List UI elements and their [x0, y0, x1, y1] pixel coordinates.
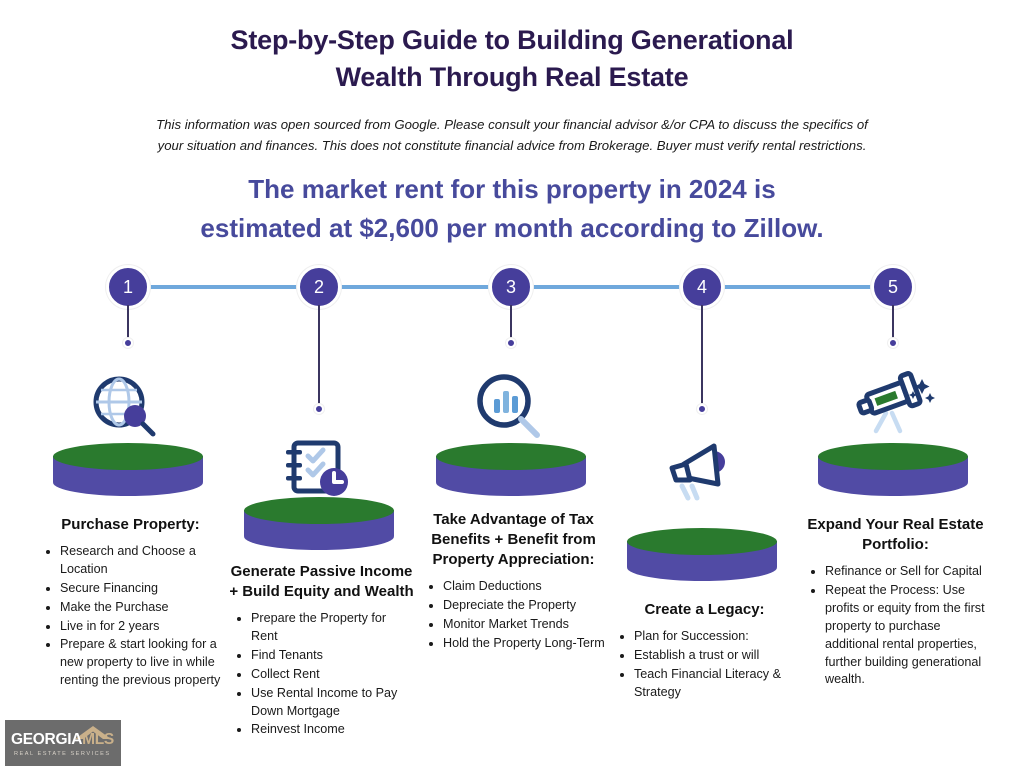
platform-cap — [818, 443, 968, 470]
list-item: Find Tenants — [251, 647, 414, 665]
list-item: Make the Purchase — [60, 599, 223, 617]
step-column-5: Expand Your Real Estate Portfolio: Refin… — [803, 515, 988, 690]
market-rent-note: The market rent for this property in 202… — [0, 170, 1024, 247]
platform-cap — [627, 528, 777, 555]
platform-4 — [627, 528, 777, 578]
platform-3 — [436, 443, 586, 493]
step-heading-5: Expand Your Real Estate Portfolio: — [803, 515, 988, 555]
platform-5 — [818, 443, 968, 493]
georgia-mls-logo: GEORGIAMLS REAL ESTATE SERVICES — [5, 720, 121, 766]
step-heading-1: Purchase Property: — [38, 515, 223, 535]
step-heading-2: Generate Passive Income + Build Equity a… — [229, 562, 414, 602]
logo-tagline: REAL ESTATE SERVICES — [14, 751, 111, 757]
list-item: Refinance or Sell for Capital — [825, 563, 988, 581]
list-item: Teach Financial Literacy & Strategy — [634, 666, 797, 702]
list-item: Hold the Property Long-Term — [443, 635, 606, 653]
platform-1 — [53, 443, 203, 493]
list-item: Prepare the Property for Rent — [251, 610, 414, 646]
list-item: Collect Rent — [251, 666, 414, 684]
platform-cap — [53, 443, 203, 470]
list-item: Reinvest Income — [251, 721, 414, 739]
market-rent-line-2: estimated at $2,600 per month according … — [0, 209, 1024, 247]
step-heading-3: Take Advantage of Tax Benefits + Benefit… — [421, 510, 606, 570]
step-bullets-1: Research and Choose a Location Secure Fi… — [38, 543, 223, 690]
platform-cap — [436, 443, 586, 470]
list-item: Claim Deductions — [443, 578, 606, 596]
logo-wordmark: GEORGIAMLS — [11, 731, 114, 749]
stem-dot-5 — [888, 338, 898, 348]
timeline-node-5[interactable]: 5 — [871, 265, 915, 309]
chart-magnifier-icon — [463, 368, 559, 444]
logo-name-second: MLS — [82, 731, 114, 748]
timeline-node-2[interactable]: 2 — [297, 265, 341, 309]
step-column-4: Create a Legacy: Plan for Succession: Es… — [612, 600, 797, 703]
step-heading-4: Create a Legacy: — [612, 600, 797, 620]
list-item: Live in for 2 years — [60, 618, 223, 636]
logo-name-first: GEORGIA — [11, 731, 82, 748]
list-item: Monitor Market Trends — [443, 616, 606, 634]
step-bullets-2: Prepare the Property for Rent Find Tenan… — [229, 610, 414, 739]
platform-2 — [244, 497, 394, 547]
stem-dot-3 — [506, 338, 516, 348]
list-item: Use Rental Income to Pay Down Mortgage — [251, 685, 414, 721]
list-item: Research and Choose a Location — [60, 543, 223, 579]
step-bullets-5: Refinance or Sell for Capital Repeat the… — [803, 563, 988, 689]
telescope-icon — [845, 364, 941, 440]
page-title-line-2: Wealth Through Real Estate — [0, 59, 1024, 96]
stem-dot-2 — [314, 404, 324, 414]
list-item: Depreciate the Property — [443, 597, 606, 615]
stem-4 — [701, 305, 703, 409]
page-title: Step-by-Step Guide to Building Generatio… — [0, 0, 1024, 97]
step-column-3: Take Advantage of Tax Benefits + Benefit… — [421, 510, 606, 654]
step-column-1: Purchase Property: Research and Choose a… — [38, 515, 223, 691]
disclaimer-line-1: This information was open sourced from G… — [62, 114, 962, 135]
step-bullets-4: Plan for Succession: Establish a trust o… — [612, 628, 797, 702]
timeline-node-3[interactable]: 3 — [489, 265, 533, 309]
timeline-node-4[interactable]: 4 — [680, 265, 724, 309]
disclaimer-line-2: your situation and finances. This does n… — [62, 135, 962, 156]
list-item: Secure Financing — [60, 580, 223, 598]
list-item: Prepare & start looking for a new proper… — [60, 636, 223, 690]
stem-2 — [318, 305, 320, 409]
megaphone-icon — [654, 434, 750, 510]
step-column-2: Generate Passive Income + Build Equity a… — [229, 562, 414, 740]
timeline-node-1[interactable]: 1 — [106, 265, 150, 309]
list-item: Establish a trust or will — [634, 647, 797, 665]
stem-dot-4 — [697, 404, 707, 414]
step-bullets-3: Claim Deductions Depreciate the Property… — [421, 578, 606, 653]
stem-dot-1 — [123, 338, 133, 348]
list-item: Repeat the Process: Use profits or equit… — [825, 582, 988, 689]
market-rent-line-1: The market rent for this property in 202… — [0, 170, 1024, 208]
page-title-line-1: Step-by-Step Guide to Building Generatio… — [0, 22, 1024, 59]
disclaimer-text: This information was open sourced from G… — [62, 114, 962, 157]
platform-cap — [244, 497, 394, 524]
list-item: Plan for Succession: — [634, 628, 797, 646]
timeline: 1 2 3 4 5 — [0, 265, 1024, 311]
globe-search-icon — [80, 368, 176, 444]
